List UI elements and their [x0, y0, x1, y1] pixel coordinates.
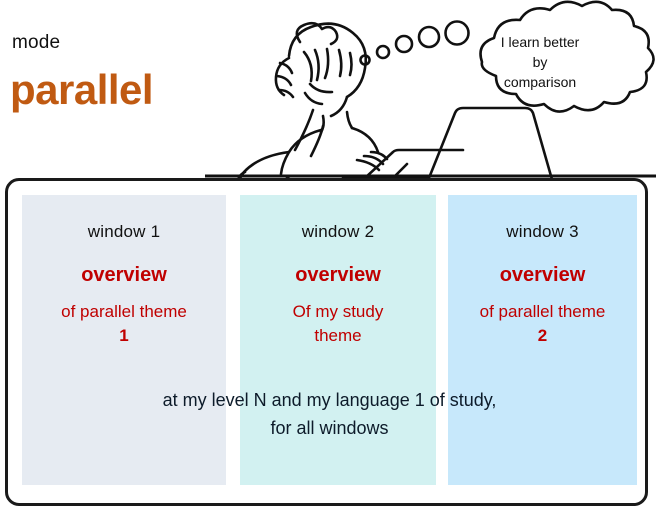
- window-description-3: of parallel theme 2: [448, 300, 637, 348]
- window-overview-heading-3: overview: [448, 263, 637, 287]
- window-title-1: window 1: [22, 221, 226, 243]
- window-description-line1-3: of parallel theme: [452, 300, 633, 324]
- mode-name-heading: parallel: [10, 66, 153, 114]
- window-description-line2-3: 2: [452, 324, 633, 348]
- thought-bubble-line-1: I learn better: [470, 32, 610, 52]
- window-overview-heading-1: overview: [22, 263, 226, 287]
- window-title-3: window 3: [448, 221, 637, 243]
- window-description-2: Of my study theme: [240, 300, 436, 348]
- thought-bubble-text: I learn better by comparison: [470, 32, 610, 92]
- window-title-2: window 2: [240, 221, 436, 243]
- header-area: mode parallel: [0, 0, 656, 178]
- mode-label: mode: [12, 32, 60, 54]
- thought-bubble-line-3: comparison: [470, 72, 610, 92]
- windows-container: window 1 overview of parallel theme 1 wi…: [8, 181, 645, 503]
- window-description-line2-2: theme: [244, 324, 432, 348]
- window-description-line1-2: Of my study: [244, 300, 432, 324]
- window-description-1: of parallel theme 1: [22, 300, 226, 348]
- window-panel-2[interactable]: window 2 overview Of my study theme: [240, 195, 436, 485]
- thought-bubble-line-2: by: [470, 52, 610, 72]
- window-panel-1[interactable]: window 1 overview of parallel theme 1: [22, 195, 226, 485]
- window-panel-3[interactable]: window 3 overview of parallel theme 2: [448, 195, 637, 485]
- window-description-line2-1: 1: [26, 324, 222, 348]
- window-overview-heading-2: overview: [240, 263, 436, 287]
- windows-frame: window 1 overview of parallel theme 1 wi…: [5, 178, 648, 506]
- window-description-line1-1: of parallel theme: [26, 300, 222, 324]
